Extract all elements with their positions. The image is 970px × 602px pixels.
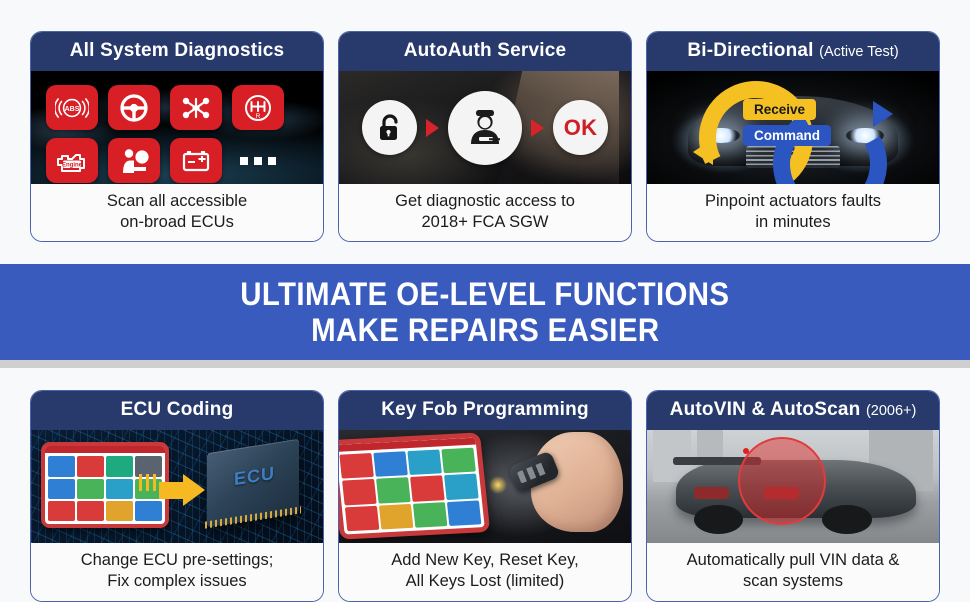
- arrow-right-icon: [426, 119, 439, 137]
- tablet-app: [407, 450, 442, 476]
- card-art-autovin-autoscan: [647, 430, 939, 543]
- caption-line-1: Add New Key, Reset Key,: [391, 551, 578, 569]
- feature-row-top: All System Diagnostics ABS: [0, 0, 970, 242]
- feature-card-autovin-autoscan[interactable]: AutoVIN & AutoScan (2006+): [646, 390, 940, 601]
- banner-line-2: MAKE REPAIRS EASIER: [311, 312, 659, 348]
- command-arrowhead-icon: [873, 101, 893, 127]
- feature-card-autoauth-service[interactable]: AutoAuth Service: [338, 31, 632, 242]
- card-caption-bi-directional: Pinpoint actuators faults in minutes: [647, 184, 939, 241]
- tablet-app: [342, 479, 377, 505]
- transfer-arrow-icon: [159, 474, 205, 506]
- card-title-autovin-autoscan: AutoVIN & AutoScan (2006+): [647, 391, 939, 430]
- chassis-suspension-icon: [170, 85, 222, 130]
- tablet-titlebar: [45, 446, 165, 453]
- card-caption-key-fob-programming: Add New Key, Reset Key, All Keys Lost (l…: [339, 543, 631, 600]
- card-caption-ecu-coding: Change ECU pre-settings; Fix complex iss…: [31, 543, 323, 600]
- arrow-ticks-icon: [139, 474, 159, 491]
- card-title-autoauth-service: AutoAuth Service: [339, 32, 631, 71]
- wheel-rear: [694, 505, 744, 534]
- card-caption-autoauth-service: Get diagnostic access to 2018+ FCA SGW: [339, 184, 631, 241]
- caption-line-2: Fix complex issues: [107, 572, 246, 590]
- caption-line-1: Get diagnostic access to: [395, 192, 575, 210]
- card-art-all-system-diagnostics: ABS: [31, 71, 323, 184]
- feature-card-bi-directional[interactable]: Bi-Directional (Active Test) Receive Com…: [646, 31, 940, 242]
- feature-card-ecu-coding[interactable]: ECU Coding: [30, 390, 324, 601]
- engine-check-icon: Engine: [46, 138, 98, 183]
- tablet-app: [441, 448, 476, 474]
- tablet-app: [106, 501, 133, 521]
- promo-page: All System Diagnostics ABS: [0, 0, 970, 600]
- system-icon-tile-grid: ABS: [46, 85, 311, 183]
- card-caption-all-system-diagnostics: Scan all accessible on-broad ECUs: [31, 184, 323, 241]
- feature-card-all-system-diagnostics[interactable]: All System Diagnostics ABS: [30, 31, 324, 242]
- svg-text:ABS: ABS: [65, 106, 80, 113]
- tablet-app: [444, 474, 479, 500]
- card-title-text: ECU Coding: [121, 399, 234, 420]
- tablet-app-grid: [339, 445, 485, 535]
- svg-text:R: R: [256, 113, 261, 120]
- ok-badge-icon: OK: [553, 100, 608, 155]
- card-title-text: AutoAuth Service: [404, 40, 567, 61]
- tablet-app: [77, 456, 104, 476]
- tablet-app: [48, 501, 75, 521]
- feature-row-bottom: ECU Coding: [0, 368, 970, 601]
- caption-line-2: in minutes: [755, 213, 830, 231]
- card-title-text: AutoVIN & AutoScan: [670, 399, 861, 420]
- card-caption-autovin-autoscan: Automatically pull VIN data & scan syste…: [647, 543, 939, 600]
- card-art-bi-directional: Receive Command: [647, 71, 939, 184]
- card-title-bi-directional: Bi-Directional (Active Test): [647, 32, 939, 71]
- tablet-app: [48, 479, 75, 499]
- more-dots-icon: [232, 138, 284, 183]
- receive-badge: Receive: [743, 99, 816, 120]
- card-title-text: All System Diagnostics: [70, 40, 285, 61]
- steering-wheel-icon: [108, 85, 160, 130]
- tablet-app: [106, 479, 133, 499]
- caption-line-1: Automatically pull VIN data &: [687, 551, 900, 569]
- caption-line-1: Pinpoint actuators faults: [705, 192, 881, 210]
- feature-card-key-fob-programming[interactable]: Key Fob Programming: [338, 390, 632, 601]
- tablet-app: [447, 500, 482, 526]
- caption-line-1: Scan all accessible: [107, 192, 247, 210]
- card-title-ecu-coding: ECU Coding: [31, 391, 323, 430]
- vin-scan-circle-icon: [738, 437, 826, 525]
- wheel-front: [822, 505, 872, 534]
- tablet-app: [379, 504, 414, 530]
- card-title-text: Key Fob Programming: [381, 399, 589, 420]
- tablet-app: [339, 453, 374, 479]
- diagnostic-tablet-icon: [339, 433, 490, 540]
- svg-text:Engine: Engine: [62, 162, 83, 168]
- tablet-app: [373, 451, 408, 477]
- auth-flow: OK: [339, 71, 631, 184]
- tablet-app: [413, 502, 448, 528]
- caption-line-2: on-broad ECUs: [120, 213, 234, 231]
- ok-label: OK: [564, 115, 598, 141]
- card-title-all-system-diagnostics: All System Diagnostics: [31, 32, 323, 71]
- transmission-icon: R: [232, 85, 284, 130]
- battery-icon: [170, 138, 222, 183]
- arrow-right-icon: [531, 119, 544, 137]
- airbag-srs-icon: [108, 138, 160, 183]
- promo-banner: ULTIMATE OE-LEVEL FUNCTIONS MAKE REPAIRS…: [0, 264, 970, 360]
- tablet-app: [48, 456, 75, 476]
- tablet-app: [77, 479, 104, 499]
- tablet-app: [376, 478, 411, 504]
- command-badge: Command: [743, 125, 831, 146]
- taillight-left: [694, 487, 729, 499]
- receive-arrowhead-icon: [693, 139, 713, 165]
- abs-icon: ABS: [46, 85, 98, 130]
- technician-icon: [448, 91, 522, 165]
- banner-line-1: ULTIMATE OE-LEVEL FUNCTIONS: [240, 276, 729, 312]
- card-art-autoauth-service: OK: [339, 71, 631, 184]
- card-title-subtext: (2006+): [866, 403, 916, 419]
- tablet-app: [135, 501, 162, 521]
- tablet-app: [106, 456, 133, 476]
- caption-line-2: All Keys Lost (limited): [406, 572, 565, 590]
- card-art-key-fob-programming: [339, 430, 631, 543]
- banner-section: ULTIMATE OE-LEVEL FUNCTIONS MAKE REPAIRS…: [0, 264, 970, 368]
- caption-line-2: scan systems: [743, 572, 843, 590]
- card-title-key-fob-programming: Key Fob Programming: [339, 391, 631, 430]
- caption-line-2: 2018+ FCA SGW: [421, 213, 548, 231]
- card-title-subtext: (Active Test): [819, 44, 899, 60]
- card-art-ecu-coding: ECU: [31, 430, 323, 543]
- caption-line-1: Change ECU pre-settings;: [81, 551, 274, 569]
- tablet-app: [77, 501, 104, 521]
- tablet-app: [345, 506, 380, 532]
- banner-bottom-rule: [0, 360, 970, 368]
- tablet-app: [410, 476, 445, 502]
- card-title-text: Bi-Directional: [687, 40, 813, 61]
- unlock-padlock-icon: [362, 100, 417, 155]
